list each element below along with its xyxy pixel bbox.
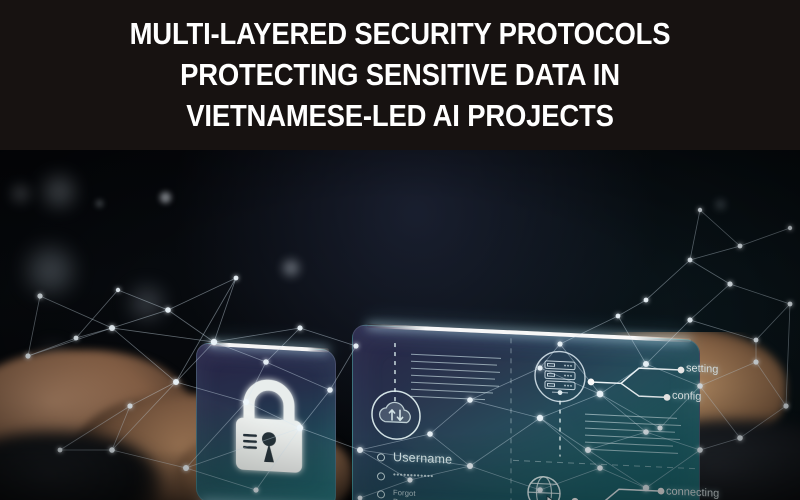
page-title: MULTI-LAYERED SECURITY PROTOCOLS PROTECT… [103, 14, 697, 137]
hero-image: Username •••••••••••• Forgot Password? [0, 150, 800, 500]
network-mesh-overlay [0, 150, 800, 500]
header-banner: MULTI-LAYERED SECURITY PROTOCOLS PROTECT… [0, 0, 800, 151]
page-root: MULTI-LAYERED SECURITY PROTOCOLS PROTECT… [0, 0, 800, 500]
